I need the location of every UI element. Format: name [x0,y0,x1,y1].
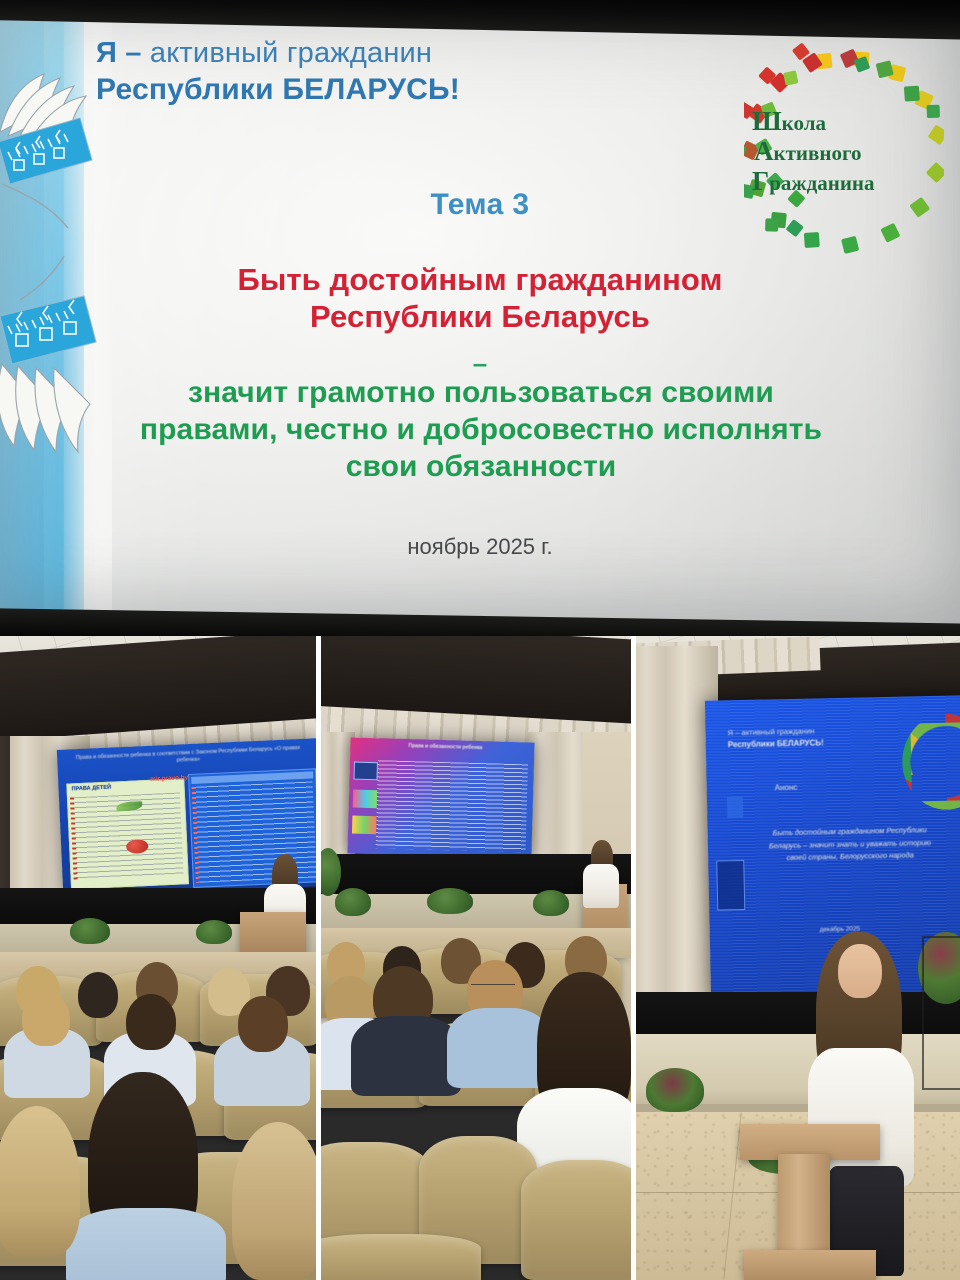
slide-title: Быть достойным гражданином Республики Бе… [150,262,810,336]
photo-left: Права и обязанности ребенка в соответств… [0,636,316,1280]
screen-thumb-3 [352,816,376,835]
stage-plant [427,888,473,914]
logo-rest-1: кола [782,111,826,135]
screen-thumb-1 [353,762,377,781]
logo-cap-3: Г [752,166,769,196]
screen-header-line2: Республики БЕЛАРУСЬ! [728,738,824,750]
screen-announce-label: Анонс [775,783,798,793]
logo-rest-2: ктивного [774,141,862,165]
audience-head [126,994,176,1050]
stage-plant-right [196,920,232,944]
panel-heading: ПРАВА ДЕТЕЙ [71,785,111,794]
slide-date: ноябрь 2025 г. [0,534,960,560]
screen-left-thumb [716,860,745,911]
header-line2: Республики БЕЛАРУСЬ! [96,74,616,106]
seat [321,1234,481,1280]
photo-collage: Я – активный гражданин Республики БЕЛАРУ… [0,0,960,1280]
school-logo: Школа Активного Гражданина [744,36,944,256]
flower-stand-left [646,1068,704,1112]
stage-plant [533,890,569,916]
podium-base [744,1250,876,1280]
stage-front-panel [636,992,960,1034]
seat [521,1160,631,1280]
logo-cap-2: А [754,136,774,166]
audience-torso [66,1208,226,1280]
screen-title: Права и обязанности ребенка в соответств… [67,745,309,769]
screen-left-panel: ПРАВА ДЕТЕЙ [66,778,189,889]
audience-hair [0,1106,80,1256]
header-line1: активный гражданин [150,37,432,69]
header-prefix: Я – [96,37,150,69]
podium [240,912,306,956]
audience-head [238,996,288,1052]
right-panel-lines [193,781,316,882]
audience-head [78,972,118,1018]
photo-center: Права и обязанности ребенка [321,636,631,1280]
logo-rest-3: ражданина [769,171,874,195]
audience-hair [232,1122,316,1280]
screen-header-line1: Я – активный гражданин [727,726,814,737]
speaker-face [838,944,882,998]
audience-torso [351,1016,461,1096]
slide-subtitle: значит грамотно пользоваться своими прав… [128,374,834,486]
eyeglasses-icon [471,984,515,994]
flower-stand-frame [922,936,960,1090]
screen-left-badge [727,796,743,818]
audience-torso [447,1008,551,1088]
logo-cap-1: Ш [752,106,782,136]
photo-row: Права и обязанности ребенка в соответств… [0,636,960,1280]
screen-body-lines [376,760,528,852]
stage-screen: Права и обязанности ребенка [347,737,534,858]
screen-announce-body: Быть достойным гражданином Республики Бе… [760,824,941,865]
speaker-body [583,864,619,908]
audience-head [22,992,70,1046]
stage-plant [335,888,371,916]
stage-plant-left [70,918,110,944]
slide-header: Я – активный гражданин Республики БЕЛАРУ… [96,38,616,106]
screen-thumb-2 [353,790,377,809]
screen-title: Права и обязанности ребенка [380,742,510,752]
logo-text: Школа Активного Гражданина [752,108,944,195]
presentation-slide: Я – активный гражданин Республики БЕЛАРУ… [0,0,960,636]
photo-right: Я – активный гражданин Республики БЕЛАРУ… [636,636,960,1280]
